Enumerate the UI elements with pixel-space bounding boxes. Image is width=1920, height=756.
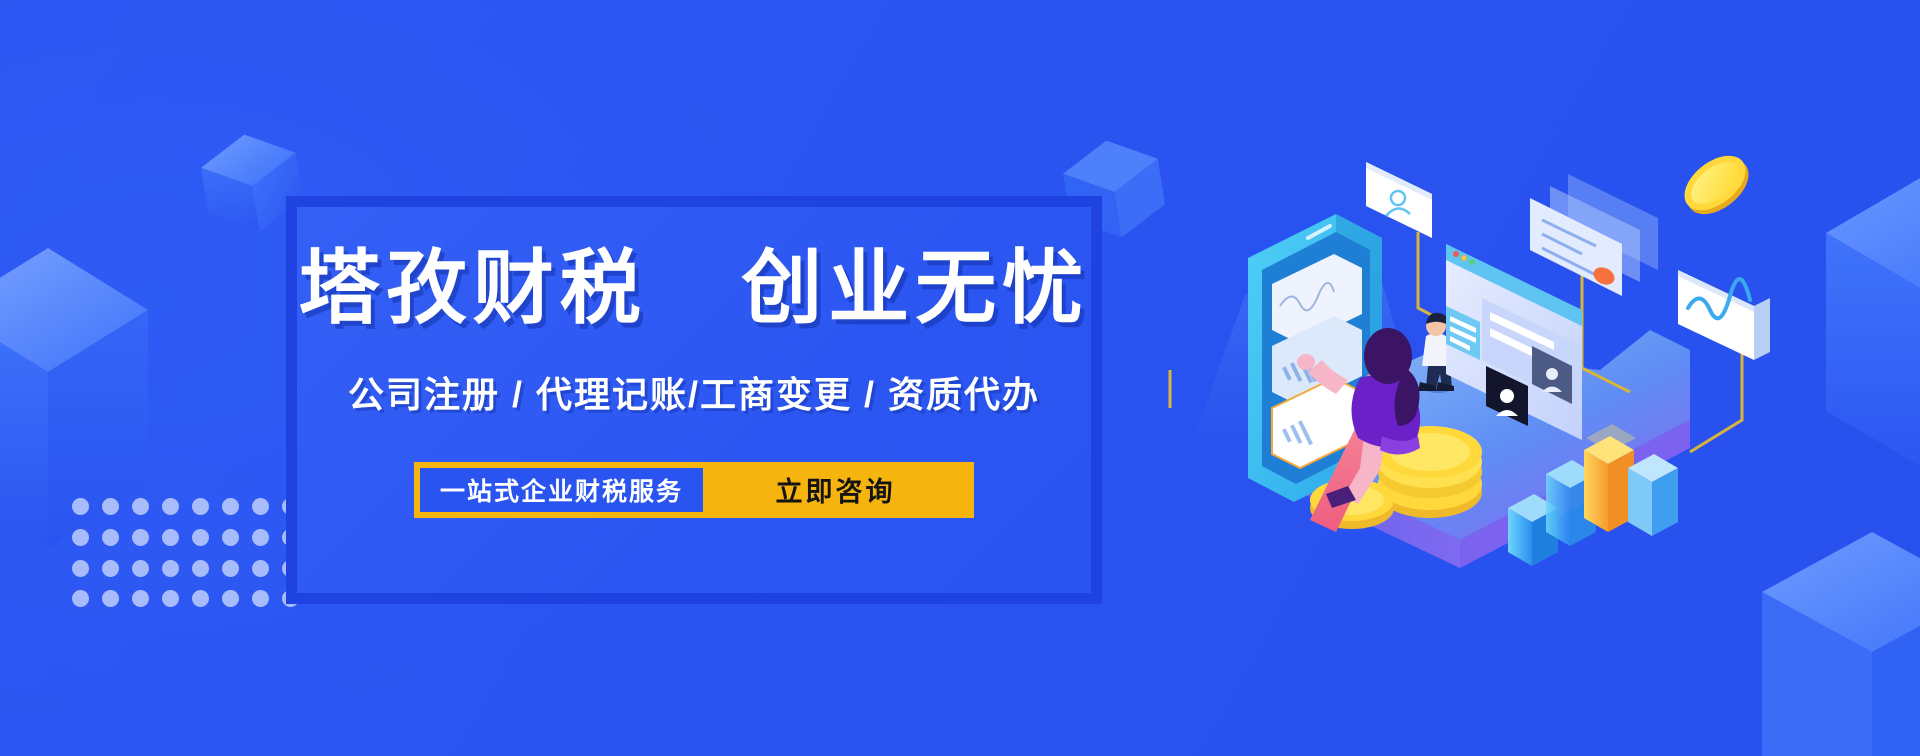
iso-cube-icon [1762, 530, 1920, 756]
avatar-card [1366, 162, 1432, 238]
dot-grid-pattern [72, 498, 292, 608]
cta-bar[interactable]: 一站式企业财税服务 立即咨询 [414, 462, 974, 518]
headline-part-2: 创业无忧 [741, 244, 1089, 334]
headline-part-1: 塔孜财税 [299, 244, 647, 334]
line-chart-card [1678, 270, 1770, 360]
isometric-fintech-scene [1130, 120, 1770, 600]
credit-card [1530, 174, 1658, 296]
page-title: 塔孜财税 创业无忧 [299, 247, 1090, 333]
cta-tag-label: 一站式企业财税服务 [420, 468, 703, 512]
consult-now-button[interactable]: 立即咨询 [703, 470, 968, 509]
promo-banner: 塔孜财税 创业无忧 公司注册 / 代理记账/工商变更 / 资质代办 一站式企业财… [0, 0, 1920, 756]
bar-blue-3 [1628, 454, 1678, 536]
headline-frame: 塔孜财税 创业无忧 公司注册 / 代理记账/工商变更 / 资质代办 一站式企业财… [286, 196, 1102, 604]
services-subtitle: 公司注册 / 代理记账/工商变更 / 资质代办 [348, 366, 1040, 418]
iso-cube-icon [1826, 175, 1920, 485]
